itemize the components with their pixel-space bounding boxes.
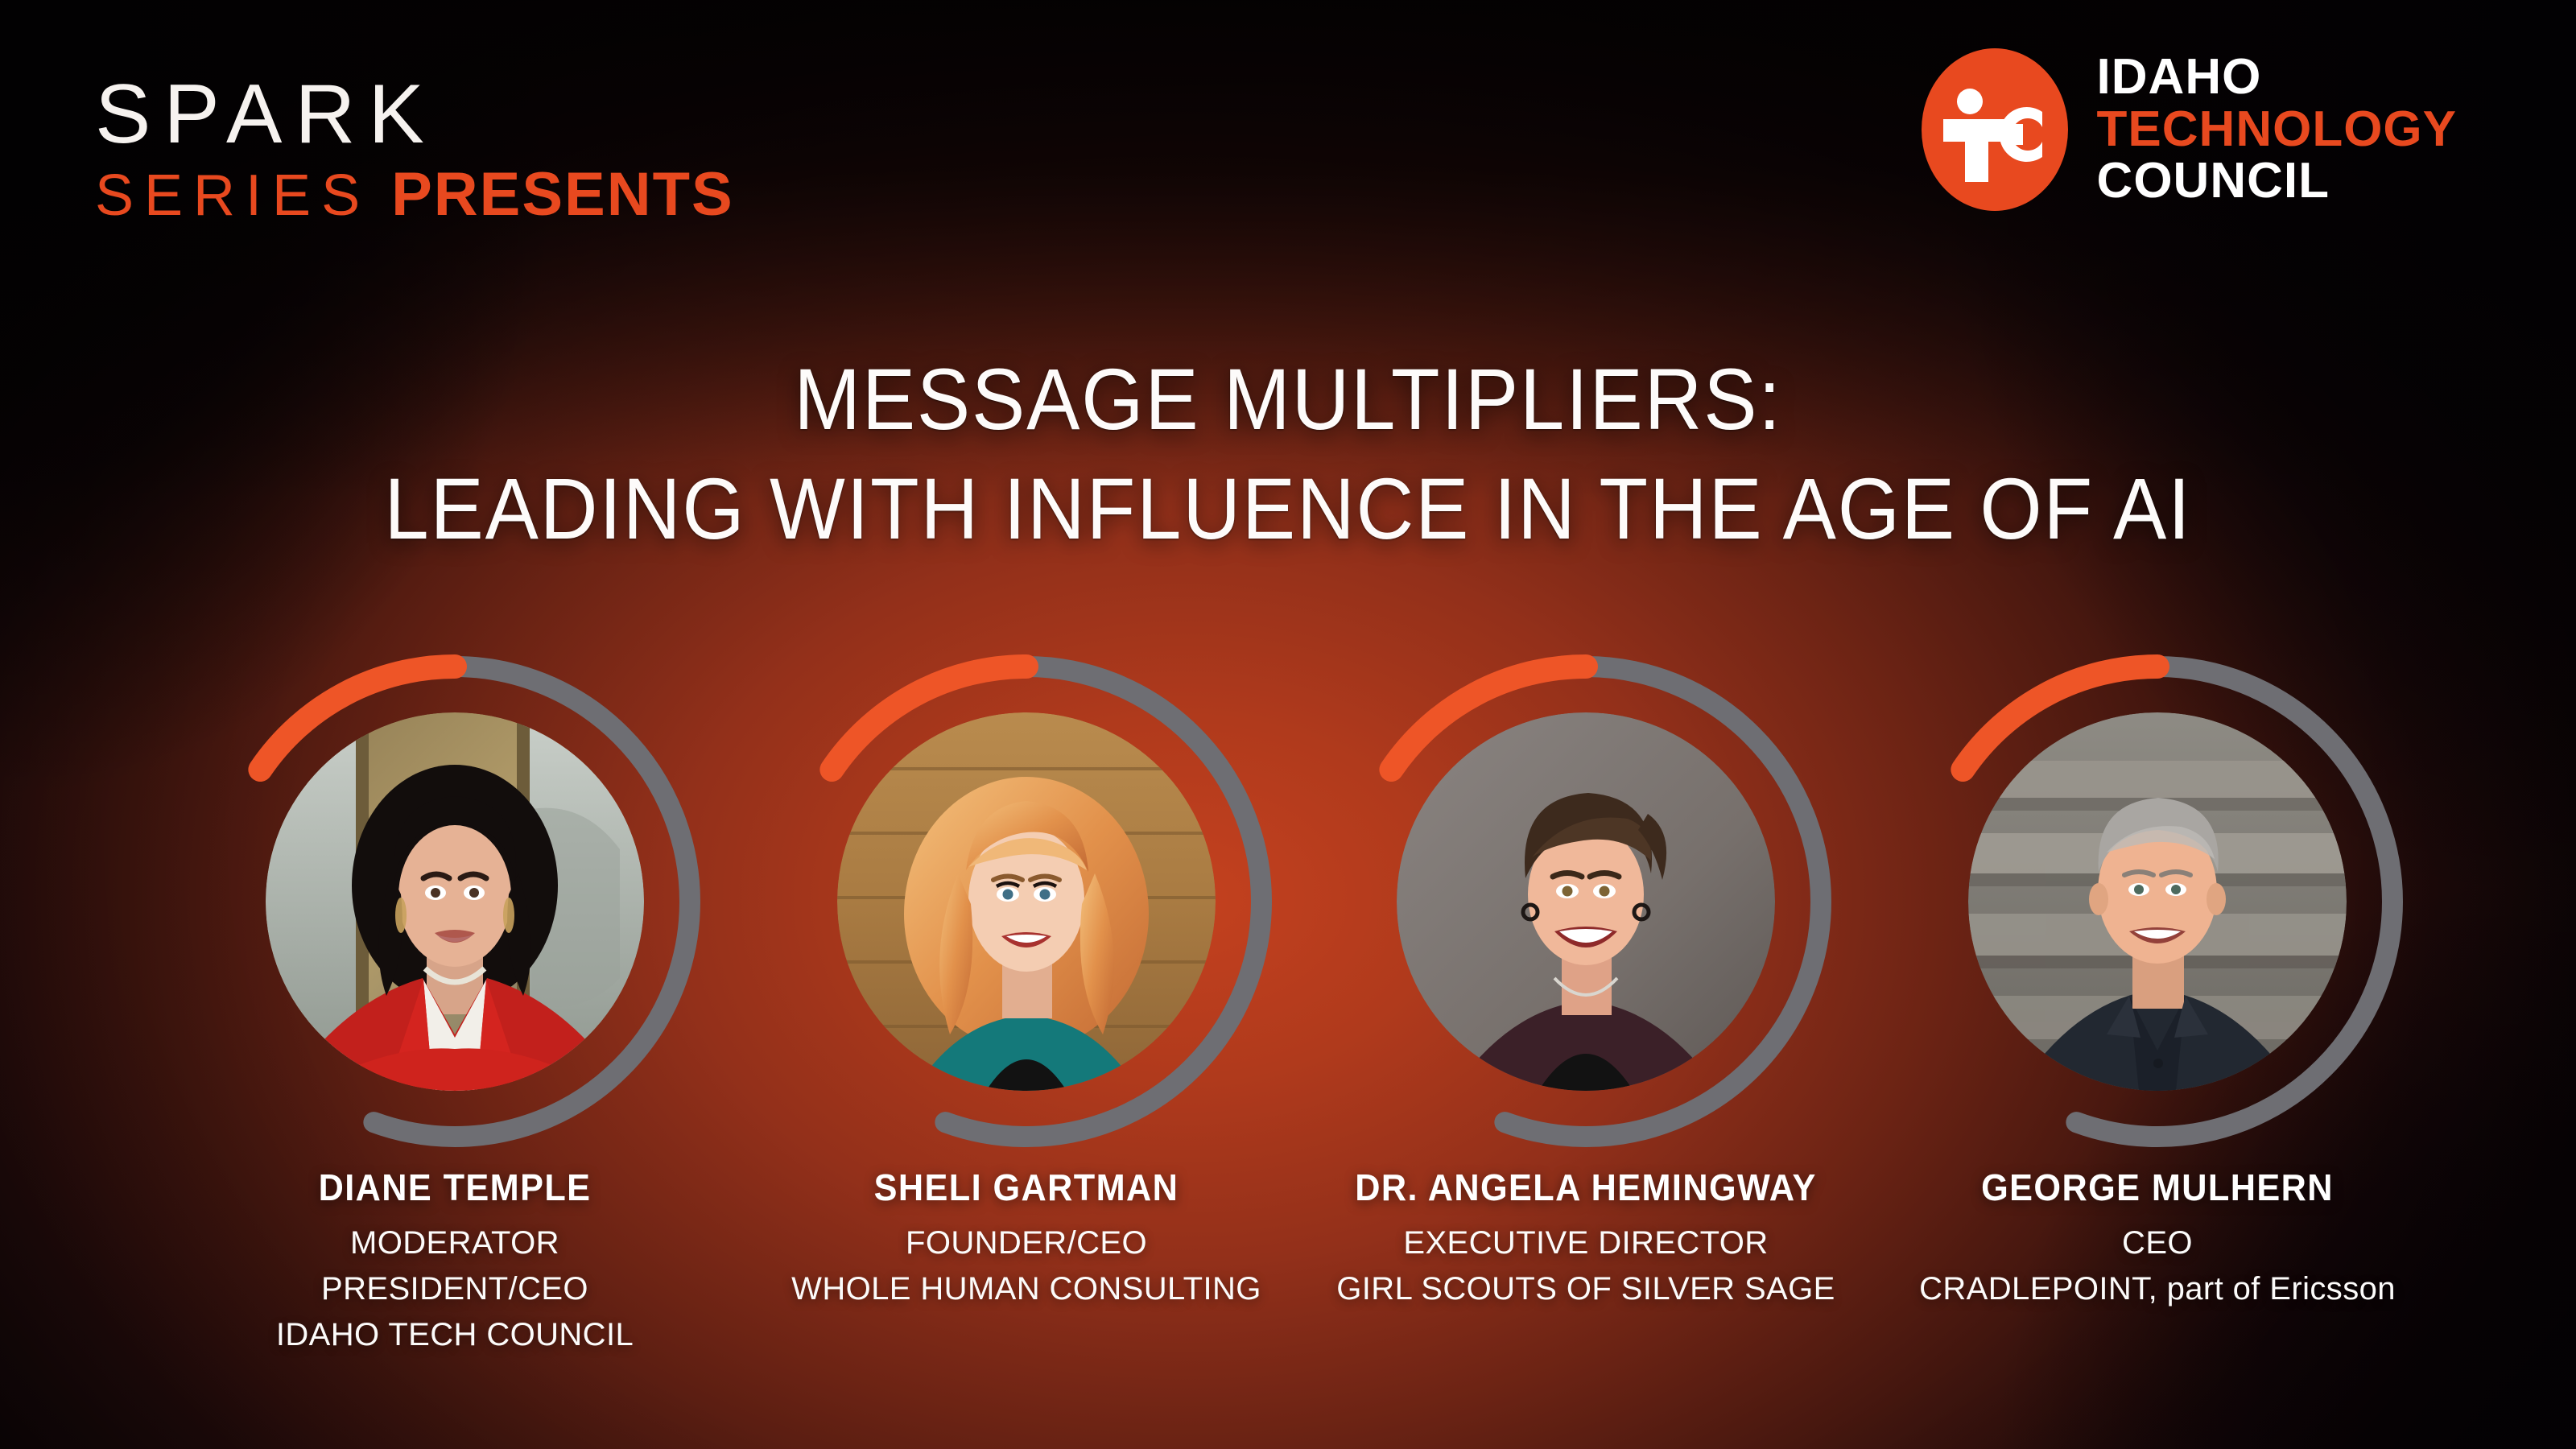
title-line-2: LEADING WITH INFLUENCE IN THE AGE OF AI [103,454,2473,563]
itc-wordmark: IDAHO TECHNOLOGY COUNCIL [2097,52,2457,207]
speaker-photo-4 [1968,712,2347,1091]
itc-line-council: COUNCIL [2097,155,2457,207]
speaker-card-1: DIANE TEMPLE MODERATOR PRESIDENT/CEO IDA… [173,652,737,1357]
speaker-photo-3 [1397,712,1775,1091]
speaker-role-2: FOUNDER/CEO WHOLE HUMAN CONSULTING [745,1220,1308,1312]
portrait-angela-hemingway-icon [1397,712,1775,1091]
itc-line-idaho: IDAHO [2097,52,2457,103]
speaker-name-2: SHELI GARTMAN [762,1166,1291,1209]
speaker-ring-3 [1336,652,1835,1151]
presents-wordmark: PRESENTS [391,164,734,225]
speaker-role-line: WHOLE HUMAN CONSULTING [745,1266,1308,1312]
portrait-diane-temple-icon [266,712,644,1091]
title-line-1: MESSAGE MULTIPLIERS: [103,345,2473,454]
speaker-ring-4 [1908,652,2407,1151]
speaker-photo-2 [837,712,1216,1091]
series-wordmark: SERIES [95,167,370,225]
speaker-photo-1 [266,712,644,1091]
page-title: MESSAGE MULTIPLIERS: LEADING WITH INFLUE… [103,345,2473,563]
speaker-role-line: EXECUTIVE DIRECTOR [1304,1220,1868,1266]
portrait-george-mulhern-icon [1968,712,2347,1091]
slide-canvas: SPARK SERIES PRESENTS IDAHO TECHNOLOGY C… [0,0,2576,1449]
speaker-role-line: GIRL SCOUTS OF SILVER SAGE [1304,1266,1868,1312]
speaker-ring-1 [205,652,704,1151]
speaker-card-4: GEORGE MULHERN CEO CRADLEPOINT, part of … [1876,652,2439,1312]
spark-subline: SERIES PRESENTS [95,164,803,225]
speaker-role-1: MODERATOR PRESIDENT/CEO IDAHO TECH COUNC… [173,1220,737,1357]
speaker-role-line: FOUNDER/CEO [745,1220,1308,1266]
speaker-card-3: DR. ANGELA HEMINGWAY EXECUTIVE DIRECTOR … [1304,652,1868,1312]
spark-wordmark: SPARK [95,74,803,156]
speaker-role-4: CEO CRADLEPOINT, part of Ericsson [1876,1220,2439,1312]
portrait-sheli-gartman-icon [837,712,1216,1091]
speaker-name-3: DR. ANGELA HEMINGWAY [1321,1166,1851,1209]
itc-circle-mark-icon [1922,48,2068,211]
speaker-card-2: SHELI GARTMAN FOUNDER/CEO WHOLE HUMAN CO… [745,652,1308,1312]
speaker-role-line: MODERATOR [173,1220,737,1266]
speaker-role-line: PRESIDENT/CEO [173,1266,737,1312]
speaker-name-4: GEORGE MULHERN [1893,1166,2422,1209]
itc-line-technology: TECHNOLOGY [2097,104,2457,155]
speaker-role-line: CEO [1876,1220,2439,1266]
speaker-row: DIANE TEMPLE MODERATOR PRESIDENT/CEO IDA… [0,652,2576,1441]
speaker-role-line: CRADLEPOINT, part of Ericsson [1876,1266,2439,1312]
speaker-ring-2 [777,652,1276,1151]
spark-series-lockup: SPARK SERIES PRESENTS [95,74,803,225]
speaker-name-1: DIANE TEMPLE [190,1166,720,1209]
speaker-role-3: EXECUTIVE DIRECTOR GIRL SCOUTS OF SILVER… [1304,1220,1868,1312]
idaho-technology-council-logo: IDAHO TECHNOLOGY COUNCIL [1922,48,2457,211]
speaker-role-line: IDAHO TECH COUNCIL [173,1312,737,1358]
